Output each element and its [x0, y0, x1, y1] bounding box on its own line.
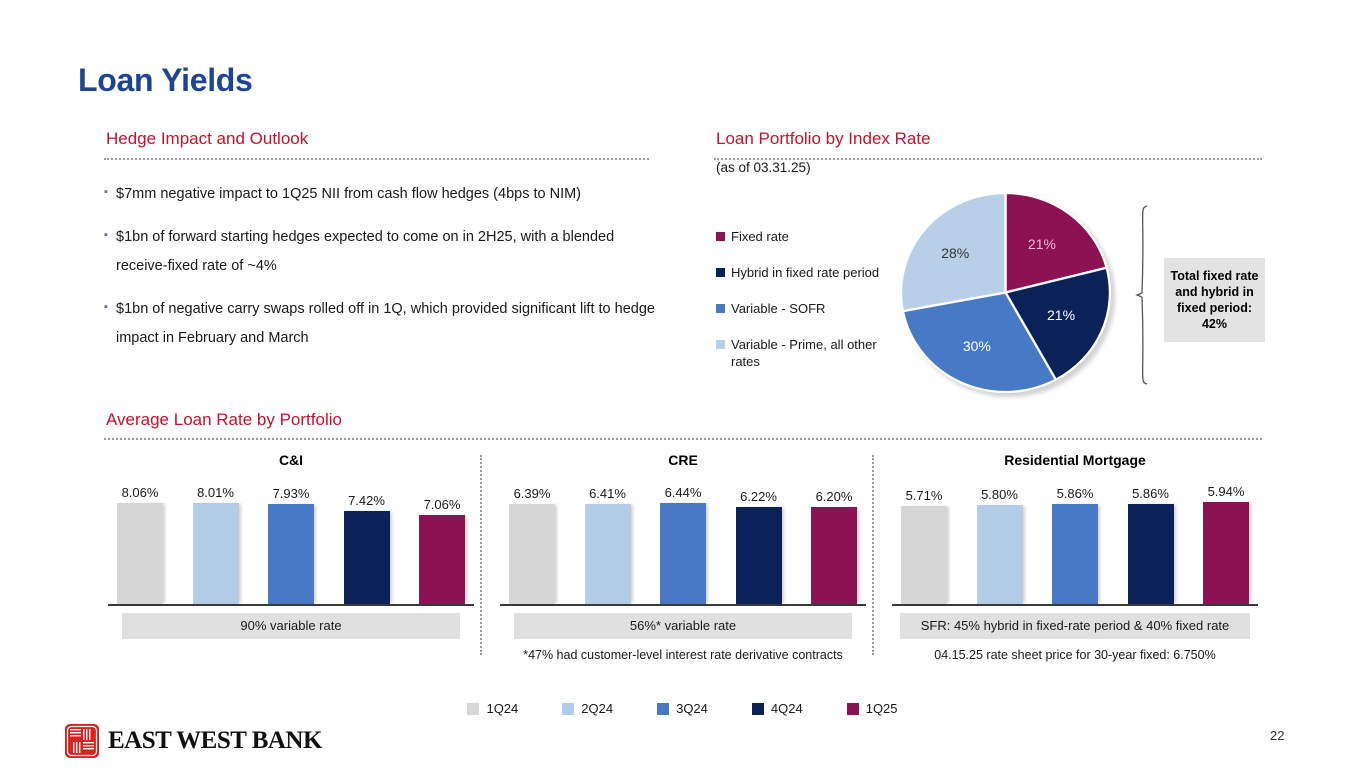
section-heading-hedge: Hedge Impact and Outlook: [106, 129, 308, 149]
bar-rect: [1203, 502, 1249, 604]
bar-chart-panel: Residential Mortgage5.71%5.80%5.86%5.86%…: [892, 452, 1258, 672]
legend-item: 1Q24: [467, 701, 518, 716]
chart-divider-2: [872, 455, 874, 655]
list-item: ▪ $7mm negative impact to 1Q25 NII from …: [104, 180, 664, 209]
list-item: ▪ $1bn of forward starting hedges expect…: [104, 223, 664, 281]
bar-chart-panel: C&I8.06%8.01%7.93%7.42%7.06%90% variable…: [108, 452, 474, 672]
axis-line: [892, 604, 1258, 606]
bar-value-label: 5.80%: [981, 487, 1018, 502]
bar-value-label: 8.06%: [122, 485, 159, 500]
pie-legend-label: Variable - Prime, all other rates: [731, 336, 886, 370]
bullet-icon: ▪: [104, 223, 116, 247]
bullet-text: $1bn of forward starting hedges expected…: [116, 223, 664, 281]
legend-item: 2Q24: [562, 701, 613, 716]
pie-legend-item: Fixed rate: [716, 228, 886, 245]
variable-rate-band: SFR: 45% hybrid in fixed-rate period & 4…: [900, 613, 1250, 639]
chart-footnote: *47% had customer-level interest rate de…: [500, 648, 866, 662]
bar-column: 6.41%: [582, 472, 634, 604]
chart-title: CRE: [500, 452, 866, 468]
bar-value-label: 7.42%: [348, 493, 385, 508]
bar-column: 7.42%: [341, 472, 393, 604]
chart-footnote: 04.15.25 rate sheet price for 30-year fi…: [892, 648, 1258, 662]
legend-swatch-icon: [467, 703, 479, 715]
pie-chart: 21%21%30%28%: [900, 192, 1115, 397]
bar-column: 6.20%: [808, 472, 860, 604]
bar-column: 5.86%: [1125, 472, 1177, 604]
bar-value-label: 6.41%: [589, 486, 626, 501]
bar-rect: [585, 504, 631, 604]
bar-rect: [193, 503, 239, 604]
bar-value-label: 5.86%: [1057, 486, 1094, 501]
divider-hedge: [104, 158, 649, 160]
bar-rect: [419, 515, 465, 604]
chart-title: Residential Mortgage: [892, 452, 1258, 468]
pie-slice-label: 30%: [963, 338, 991, 354]
axis-line: [500, 604, 866, 606]
list-item: ▪ $1bn of negative carry swaps rolled of…: [104, 295, 664, 353]
bar-column: 6.22%: [733, 472, 785, 604]
bullet-text: $7mm negative impact to 1Q25 NII from ca…: [116, 180, 581, 209]
pie-legend-label: Variable - SOFR: [731, 300, 825, 317]
pie-slice-label: 28%: [941, 245, 969, 261]
legend-swatch-icon: [562, 703, 574, 715]
bullet-text: $1bn of negative carry swaps rolled off …: [116, 295, 664, 353]
brand-name: EAST WEST BANK: [108, 727, 322, 755]
bar-rect: [117, 503, 163, 604]
as-of-label: (as of 03.31.25): [716, 160, 811, 175]
bars-area: 5.71%5.80%5.86%5.86%5.94%: [892, 472, 1258, 604]
legend-item: 4Q24: [752, 701, 803, 716]
legend-label: 1Q24: [486, 701, 518, 716]
legend-label: 3Q24: [676, 701, 708, 716]
bar-value-label: 7.93%: [273, 486, 310, 501]
callout-box: Total fixed rate and hybrid in fixed per…: [1164, 258, 1265, 342]
bar-column: 5.86%: [1049, 472, 1101, 604]
bar-value-label: 6.39%: [514, 486, 551, 501]
legend-swatch-icon: [716, 304, 725, 313]
quarter-legend: 1Q242Q243Q244Q241Q25: [0, 701, 1365, 716]
bar-column: 8.01%: [190, 472, 242, 604]
legend-item: 3Q24: [657, 701, 708, 716]
bar-column: 5.80%: [974, 472, 1026, 604]
bar-value-label: 7.06%: [424, 497, 461, 512]
bar-value-label: 6.44%: [665, 485, 702, 500]
bar-column: 6.44%: [657, 472, 709, 604]
bar-value-label: 5.71%: [906, 488, 943, 503]
legend-swatch-icon: [716, 340, 725, 349]
chart-divider-1: [480, 455, 482, 655]
bar-rect: [736, 507, 782, 604]
variable-rate-band: 90% variable rate: [122, 613, 460, 639]
legend-label: 2Q24: [581, 701, 613, 716]
bar-rect: [1128, 504, 1174, 604]
legend-swatch-icon: [716, 232, 725, 241]
bar-rect: [344, 511, 390, 604]
pie-legend: Fixed rateHybrid in fixed rate periodVar…: [716, 228, 886, 389]
legend-label: 1Q25: [866, 701, 898, 716]
section-heading-portfolio: Loan Portfolio by Index Rate: [716, 129, 931, 149]
variable-rate-band: 56%* variable rate: [514, 613, 852, 639]
legend-swatch-icon: [752, 703, 764, 715]
bar-chart-panel: CRE6.39%6.41%6.44%6.22%6.20%56%* variabl…: [500, 452, 866, 672]
bar-column: 5.94%: [1200, 472, 1252, 604]
bracket-icon: [1134, 205, 1150, 385]
section-heading-avg-rate: Average Loan Rate by Portfolio: [106, 410, 342, 430]
page-title: Loan Yields: [78, 62, 253, 99]
hedge-bullet-list: ▪ $7mm negative impact to 1Q25 NII from …: [104, 180, 664, 367]
pie-legend-label: Hybrid in fixed rate period: [731, 264, 879, 281]
east-west-bank-logo-icon: [65, 724, 99, 758]
bar-rect: [509, 504, 555, 604]
bar-column: 5.71%: [898, 472, 950, 604]
bar-rect: [660, 503, 706, 604]
bar-rect: [977, 505, 1023, 604]
pie-slices: [900, 192, 1111, 393]
legend-swatch-icon: [847, 703, 859, 715]
pie-legend-item: Variable - SOFR: [716, 300, 886, 317]
legend-label: 4Q24: [771, 701, 803, 716]
pie-legend-item: Variable - Prime, all other rates: [716, 336, 886, 370]
axis-line: [108, 604, 474, 606]
bullet-icon: ▪: [104, 180, 116, 204]
divider-avg-rate: [104, 438, 1262, 440]
legend-swatch-icon: [716, 268, 725, 277]
brand-logo: EAST WEST BANK: [65, 724, 322, 758]
pie-slice-label: 21%: [1028, 236, 1056, 252]
legend-item: 1Q25: [847, 701, 898, 716]
bar-rect: [901, 506, 947, 604]
pie-legend-item: Hybrid in fixed rate period: [716, 264, 886, 281]
bar-value-label: 5.86%: [1132, 486, 1169, 501]
bar-column: 7.06%: [416, 472, 468, 604]
bar-value-label: 6.20%: [816, 489, 853, 504]
bar-column: 6.39%: [506, 472, 558, 604]
bullet-icon: ▪: [104, 295, 116, 319]
bar-column: 8.06%: [114, 472, 166, 604]
bars-area: 6.39%6.41%6.44%6.22%6.20%: [500, 472, 866, 604]
page-number: 22: [1270, 728, 1284, 743]
bars-area: 8.06%8.01%7.93%7.42%7.06%: [108, 472, 474, 604]
bar-value-label: 8.01%: [197, 485, 234, 500]
bar-column: 7.93%: [265, 472, 317, 604]
chart-title: C&I: [108, 452, 474, 468]
bar-rect: [268, 504, 314, 604]
bar-rect: [811, 507, 857, 604]
bar-rect: [1052, 504, 1098, 604]
pie-legend-label: Fixed rate: [731, 228, 789, 245]
legend-swatch-icon: [657, 703, 669, 715]
bar-value-label: 6.22%: [740, 489, 777, 504]
bar-value-label: 5.94%: [1208, 484, 1245, 499]
pie-slice-label: 21%: [1047, 307, 1075, 323]
